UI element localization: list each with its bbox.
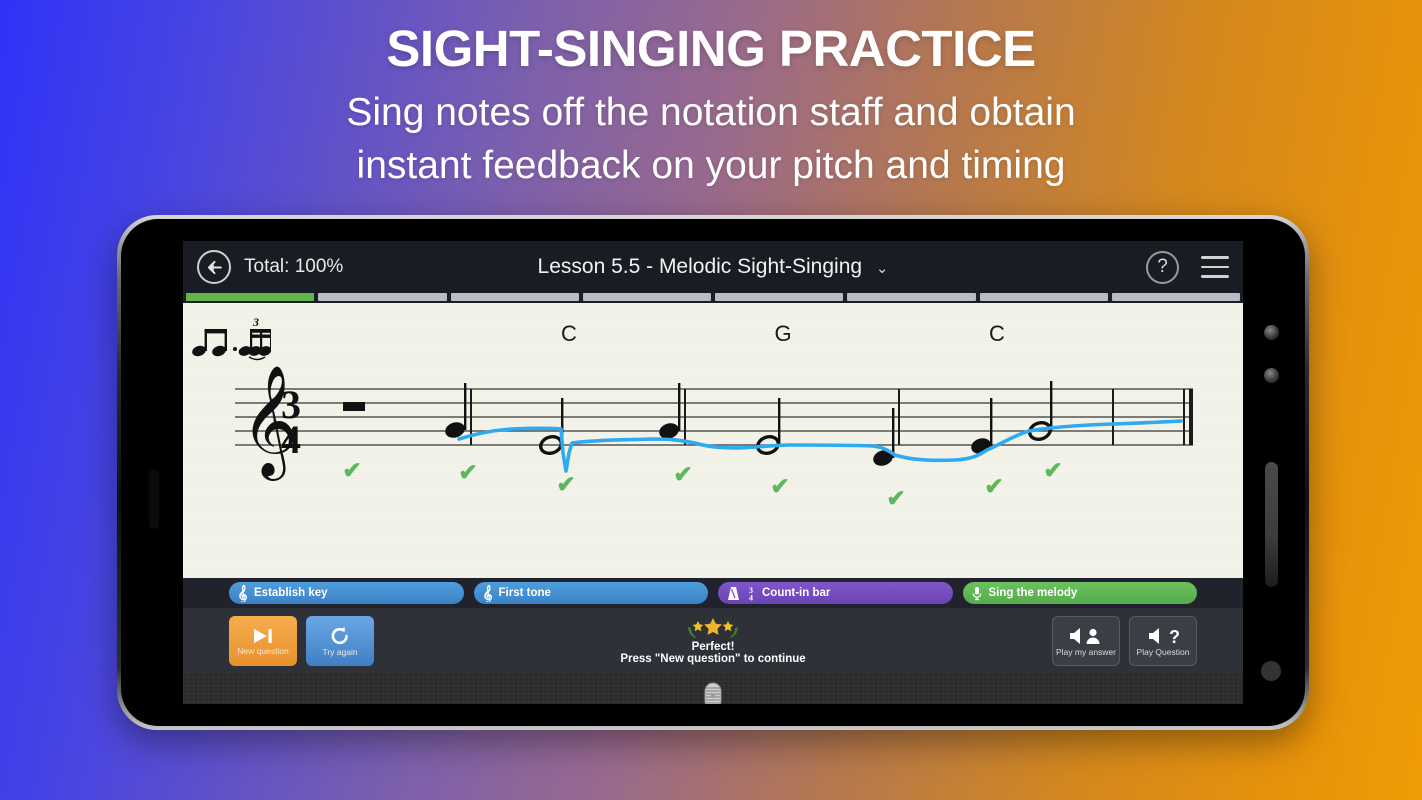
button-label: Play Question <box>1137 647 1190 657</box>
hamburger-menu-icon[interactable] <box>1201 256 1229 278</box>
hero-subtitle: Sing notes off the notation staff and ob… <box>0 87 1422 192</box>
mode-establish-key[interactable]: 𝄞 Establish key <box>229 582 464 604</box>
note-correct-check: ✔ <box>1043 457 1062 484</box>
control-bar: New question Try again <box>183 608 1243 674</box>
new-question-button[interactable]: New question <box>229 616 297 666</box>
playback-buttons: Play my answer ? Play Question <box>1052 616 1197 666</box>
note-correct-check: ✔ <box>984 473 1003 500</box>
top-bar-actions: ? <box>1146 251 1229 284</box>
progress-segment <box>318 293 446 301</box>
refresh-icon <box>328 626 352 646</box>
mode-label: Sing the melody <box>989 587 1078 599</box>
mode-label: Count-in bar <box>762 587 830 599</box>
svg-text:?: ? <box>1169 627 1180 646</box>
back-arrow-icon <box>205 258 224 277</box>
chord-label: C <box>989 321 1005 347</box>
progress-segment <box>186 293 314 301</box>
button-label: Play my answer <box>1056 647 1116 657</box>
play-my-answer-button[interactable]: Play my answer <box>1052 616 1120 666</box>
notation-staff: 𝄞 3 4 <box>183 303 1243 578</box>
lesson-progress-bar <box>183 293 1243 303</box>
mode-count-in-bar[interactable]: 3 4 Count-in bar <box>718 582 953 604</box>
skip-next-icon <box>250 627 276 645</box>
mode-sing-the-melody[interactable]: Sing the melody <box>963 582 1198 604</box>
treble-clef-icon: 𝄞 <box>483 585 492 602</box>
mode-label: Establish key <box>254 587 328 599</box>
play-question-button[interactable]: ? Play Question <box>1129 616 1197 666</box>
progress-segment <box>1112 293 1240 301</box>
progress-segment <box>451 293 579 301</box>
microphone-icon <box>972 586 982 601</box>
try-again-button[interactable]: Try again <box>306 616 374 666</box>
side-speaker-slot <box>1265 462 1278 587</box>
button-label: New question <box>237 646 289 656</box>
lesson-title-text: Lesson 5.5 - Melodic Sight-Singing <box>538 255 863 278</box>
speaker-question-icon: ? <box>1144 626 1182 646</box>
progress-segment <box>847 293 975 301</box>
time-signature-icon: 3 4 <box>747 586 755 601</box>
microphone-status-panel <box>183 674 1243 704</box>
sensor-icon <box>1264 368 1279 383</box>
pitch-trace-line <box>459 421 1181 471</box>
hero-banner: SIGHT-SINGING PRACTICE Sing notes off th… <box>0 22 1422 192</box>
music-notation-area[interactable]: 3 <box>183 303 1243 578</box>
svg-text:4: 4 <box>281 417 301 462</box>
app-top-bar: Total: 100% Lesson 5.5 - Melodic Sight-S… <box>183 241 1243 293</box>
chevron-down-icon: ⌄ <box>876 260 889 277</box>
page-title: SIGHT-SINGING PRACTICE <box>0 22 1422 75</box>
button-label: Try again <box>322 647 357 657</box>
phone-bezel: Total: 100% Lesson 5.5 - Melodic Sight-S… <box>121 219 1305 726</box>
progress-segment <box>980 293 1108 301</box>
hero-subtitle-line1: Sing notes off the notation staff and ob… <box>0 87 1422 140</box>
note-correct-check: ✔ <box>556 471 575 498</box>
vintage-microphone-icon <box>693 680 733 704</box>
speaker-person-icon <box>1067 626 1105 646</box>
practice-phase-buttons: 𝄞 Establish key 𝄞 First tone <box>183 578 1243 608</box>
svg-text:𝄞: 𝄞 <box>483 585 492 602</box>
chord-label: C <box>561 321 577 347</box>
app-screen: Total: 100% Lesson 5.5 - Melodic Sight-S… <box>183 241 1243 704</box>
treble-clef-icon: 𝄞 <box>238 585 247 602</box>
total-score-label: Total: 100% <box>244 256 343 278</box>
metronome-icon <box>727 586 740 601</box>
help-button[interactable]: ? <box>1146 251 1179 284</box>
note-correct-check: ✔ <box>886 485 905 512</box>
phone-device-frame: Total: 100% Lesson 5.5 - Melodic Sight-S… <box>117 215 1309 730</box>
front-camera-icon <box>1264 325 1279 340</box>
mode-label: First tone <box>499 587 551 599</box>
note-correct-check: ✔ <box>770 473 789 500</box>
note-correct-check: ✔ <box>342 457 361 484</box>
mode-first-tone[interactable]: 𝄞 First tone <box>474 582 709 604</box>
svg-text:𝄞: 𝄞 <box>238 585 247 602</box>
hero-subtitle-line2: instant feedback on your pitch and timin… <box>0 140 1422 193</box>
note-correct-check: ✔ <box>458 459 477 486</box>
back-button[interactable] <box>197 250 231 284</box>
note-correct-check: ✔ <box>673 461 692 488</box>
progress-segment <box>583 293 711 301</box>
progress-segment <box>715 293 843 301</box>
left-bezel-notch <box>149 469 159 529</box>
chord-label: G <box>774 321 791 347</box>
home-button[interactable] <box>1261 661 1281 681</box>
help-icon: ? <box>1157 256 1168 278</box>
svg-text:4: 4 <box>749 593 753 601</box>
